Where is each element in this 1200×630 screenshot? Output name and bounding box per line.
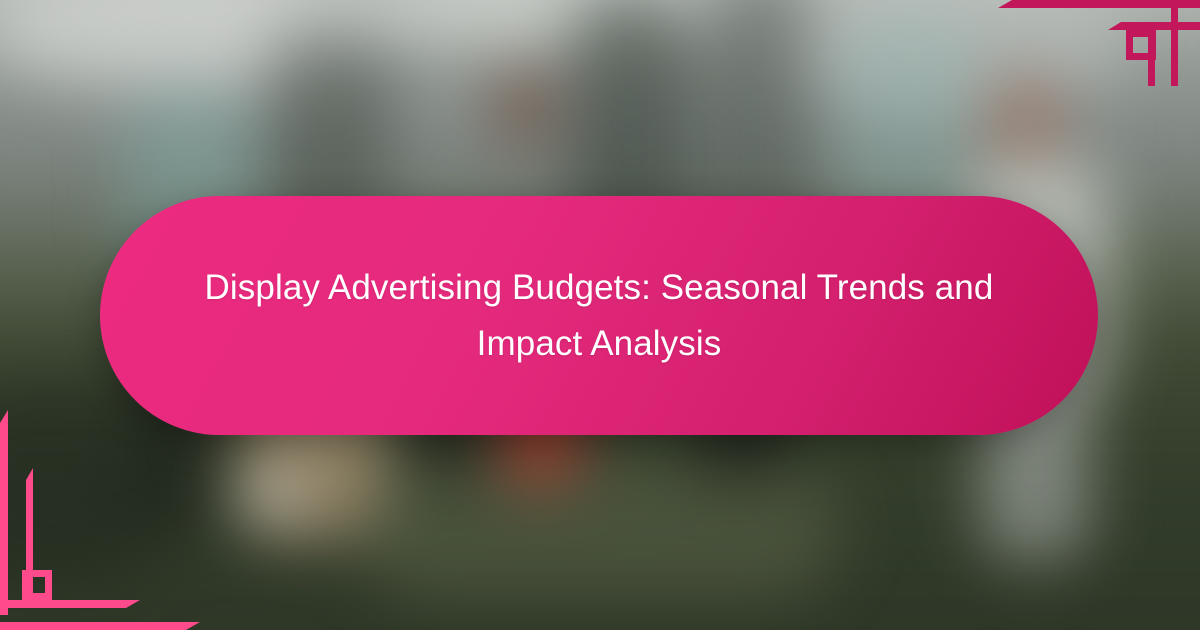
share-card-canvas: Display Advertising Budgets: Seasonal Tr… xyxy=(0,0,1200,630)
title-card: Display Advertising Budgets: Seasonal Tr… xyxy=(100,196,1098,435)
ornament-tr-inner-vertical xyxy=(1148,23,1155,86)
ornament-bl-long-bar xyxy=(0,600,140,608)
corner-bracket-bottom-left-icon xyxy=(0,410,200,630)
ornament-bl-small-square xyxy=(22,570,52,600)
ornament-tr-long-bar xyxy=(998,0,1200,8)
page-title: Display Advertising Budgets: Seasonal Tr… xyxy=(204,260,994,371)
ornament-tr-outer-vertical xyxy=(1171,8,1178,86)
bg-blob-person-hair-centre xyxy=(485,60,565,155)
bg-blob-shoe-white xyxy=(235,470,305,520)
ornament-bl-tall-vertical xyxy=(0,410,8,615)
corner-bracket-top-right-icon xyxy=(980,0,1200,86)
bg-blob-ceiling-beam xyxy=(370,0,750,50)
bg-blob-floor-sheen xyxy=(360,460,840,600)
ornament-bl-short-bar xyxy=(0,622,200,630)
